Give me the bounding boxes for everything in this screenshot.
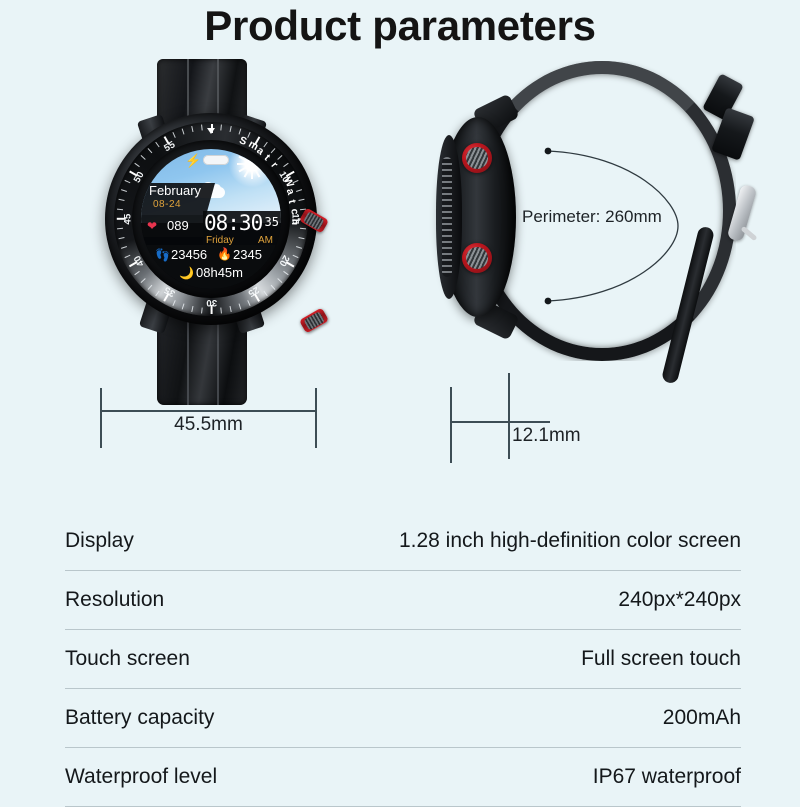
spec-label: Resolution (65, 588, 164, 612)
spec-value: 1.28 inch high-definition color screen (399, 529, 741, 553)
spec-row: Battery capacity200mAh (65, 689, 741, 748)
screen-status-icons: ⚡ (141, 153, 281, 167)
spec-value: Full screen touch (581, 647, 741, 671)
case-grip-texture (442, 157, 452, 277)
dimension-tick-left (450, 387, 452, 463)
spec-label: Touch screen (65, 647, 190, 671)
spec-label: Waterproof level (65, 765, 217, 789)
bezel-brand-char: c (288, 208, 300, 215)
flame-icon: 🔥 (217, 248, 232, 260)
perimeter-label: Perimeter: 260mm (522, 207, 662, 227)
sleep-value: 08h45m (196, 265, 243, 280)
watch-screen[interactable]: ⚡ February 08-24 ❤ 089 08:30 35 Friday A… (141, 149, 281, 289)
product-figure-area: 55101520253035404550 SmatrWatch ⚡ Februa… (0, 55, 800, 475)
date-label: 08-24 (153, 199, 181, 210)
thickness-dimension: 12.1mm (450, 373, 560, 449)
footsteps-icon: 👣 (155, 249, 170, 261)
crown-knurl (466, 247, 488, 269)
calories-value: 2345 (233, 247, 262, 262)
heart-icon: ❤ (147, 220, 157, 232)
seconds-value: 35 (265, 215, 279, 229)
spec-value: IP67 waterproof (593, 765, 741, 789)
width-dimension: 45.5mm (100, 388, 320, 448)
watch-front-view: 55101520253035404550 SmatrWatch ⚡ Februa… (95, 55, 325, 445)
watch-case-front: 55101520253035404550 SmatrWatch ⚡ Februa… (105, 113, 317, 325)
metrics-panel: 👣 23456 🔥 2345 🌙 08h45m (141, 245, 281, 289)
spec-row: Display1.28 inch high-definition color s… (65, 512, 741, 571)
time-value: 08:30 (204, 211, 262, 235)
dimension-line (100, 410, 317, 412)
thickness-dimension-label: 12.1mm (512, 425, 581, 447)
battery-pill-icon (203, 155, 229, 165)
moon-icon: 🌙 (179, 267, 194, 279)
dimension-line (450, 421, 550, 423)
crown-button-upper[interactable] (462, 143, 492, 173)
spec-value: 200mAh (663, 706, 741, 730)
width-dimension-label: 45.5mm (100, 414, 317, 436)
spec-value: 240px*240px (618, 588, 741, 612)
crown-knurl (466, 147, 488, 169)
spec-table: Display1.28 inch high-definition color s… (65, 512, 741, 807)
time-panel: 08:30 35 Friday AM (203, 211, 281, 249)
spec-row: Resolution240px*240px (65, 571, 741, 630)
spec-label: Battery capacity (65, 706, 214, 730)
month-label: February (149, 183, 201, 198)
crown-button-lower[interactable] (462, 243, 492, 273)
steps-value: 23456 (171, 247, 207, 262)
spec-label: Display (65, 529, 134, 553)
watch-side-view: Perimeter: 260mm 12.1mm (440, 55, 780, 455)
dimension-tick-right (508, 373, 510, 459)
spec-row: Waterproof levelIP67 waterproof (65, 748, 741, 807)
heart-rate-value: 089 (167, 218, 189, 233)
page-title: Product parameters (0, 2, 800, 50)
spec-row: Touch screenFull screen touch (65, 630, 741, 689)
bolt-icon: ⚡ (185, 154, 201, 167)
